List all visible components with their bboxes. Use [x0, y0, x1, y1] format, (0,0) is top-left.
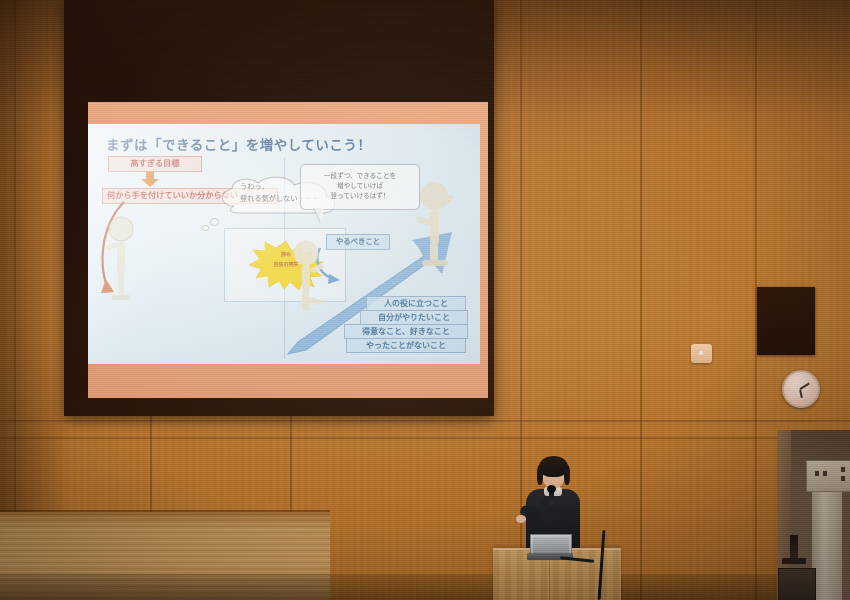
- wall-cabinet: [806, 460, 850, 492]
- switch-indicator-led: [699, 351, 703, 355]
- presentation-slide: まずは「できること」を増やしていこう！ 高すぎる目標 何から手を付けていいか分か…: [88, 124, 480, 364]
- cabinet-knob: [841, 476, 845, 481]
- wall-horizontal-seam: [0, 420, 850, 422]
- microphone-head: [547, 485, 556, 493]
- speech-line1: 一段ずつ、できることを: [324, 172, 396, 182]
- cabinet-knob: [823, 471, 827, 476]
- presenter-hand-left: [516, 515, 526, 523]
- wall-panel-seam: [640, 0, 642, 600]
- stage-front-shadow: [0, 574, 850, 600]
- cabinet-knob: [841, 467, 845, 472]
- presenter-hair-side: [537, 465, 543, 485]
- list-item: 人の役に立つこと: [366, 296, 466, 311]
- slide-title: まずは「できること」を増やしていこう！: [106, 134, 371, 154]
- wall-horizontal-seam: [0, 437, 850, 439]
- goal-box: 高すぎる目標: [108, 156, 202, 172]
- stick-figure-celebrating: [414, 180, 456, 272]
- list-item: やったことがないこと: [346, 338, 466, 353]
- thought-bubble-dot: [210, 218, 219, 226]
- projection-screen: まずは「できること」を増やしていこう！ 高すぎる目標 何から手を付けていいか分か…: [64, 0, 494, 416]
- clock-hour-hand: [799, 390, 803, 398]
- thought-bubble-dot: [202, 225, 209, 231]
- clock-minute-hand: [799, 382, 809, 389]
- list-item: 自分がやりたいこと: [360, 310, 468, 325]
- wall-switch-plate[interactable]: [691, 344, 712, 363]
- speech-line3: 登っていけるはず！: [330, 192, 389, 202]
- down-arrow-icon: [140, 172, 160, 188]
- stick-figure-climbing: [290, 240, 326, 314]
- alcove-lamp-base: [782, 558, 806, 564]
- laptop-screen: [533, 537, 569, 553]
- speech-line2: 増やしていけば: [337, 182, 383, 192]
- todo-label-box: やるべきこと: [326, 234, 390, 250]
- speech-bubble: 一段ずつ、できることを 増やしていけば 登っていけるはず！: [300, 164, 420, 210]
- presenter-hair-side: [564, 465, 570, 485]
- list-item: 得意なこと、好きなこと: [344, 324, 468, 339]
- alcove-low-cabinet: [778, 568, 816, 600]
- speech-bubble-text: 一段ずつ、できることを 増やしていけば 登っていけるはず！: [301, 165, 419, 209]
- wall-clock: [782, 370, 820, 408]
- thought-text-line1: うわっ、: [240, 182, 269, 193]
- wall-dark-panel: [757, 287, 815, 355]
- photo-scene: まずは「できること」を増やしていこう！ 高すぎる目標 何から手を付けていいか分か…: [0, 0, 850, 600]
- speech-bubble-tail: [314, 207, 324, 223]
- alcove-column: [812, 492, 842, 600]
- cabinet-knob: [815, 471, 819, 476]
- stick-figure-discouraged: [104, 216, 138, 302]
